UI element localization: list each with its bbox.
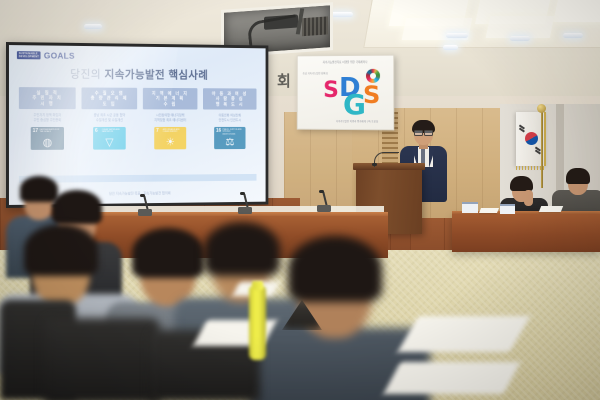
speaker-glasses-icon [414,130,433,134]
sdg-number: 17 [33,128,38,134]
speaker-lapel-right [429,146,436,168]
sdg-number: 6 [95,128,98,134]
yellow-bottle [249,286,266,360]
paper-sheet-foreground [383,362,520,394]
card-heading: 실 질 적 주 민 자 치 시 행 [19,87,76,109]
banner-letter-s1: S [323,78,339,103]
card-heading: 지 역 에 너 지 기 본 계 획 수 립 [143,88,198,110]
card-subtext: 주민자치 정책 확립과 주민 중심형 주민총회 [19,113,76,122]
audience-chair [44,318,160,400]
flag-fringe [516,166,544,170]
banner-top-text: 지속가능발전목표 이행을 위한 국제세미나 [304,61,388,65]
card-subtext: 아동친화 여성친화 안전도시 인권도시 [203,113,256,122]
taeguk-symbol-icon [525,132,538,145]
slide-card: 아 동 과 여 성 사 람 중 심 행 복 도 시 아동친화 여성친화 안전도시… [203,88,256,149]
logo-wordmark: GOALS [44,50,75,60]
sdg-number: 16 [216,128,221,134]
card-subtext: 시민참여형 에너지정책 지역맞춤 최초 에너지센터 [143,113,198,122]
conference-room-photo: SUSTAINABLE DEVELOPMENT GOALS 당진의 지속가능발전… [0,0,600,400]
ceiling-downlight [446,33,468,38]
sdg-glyph: ◍ [31,138,64,149]
card-head-line: 시 행 [41,101,55,107]
paper-sheet [539,206,563,212]
card-sub-line: 수질개선 및 수질개선 [81,118,137,123]
slide-card: 실 질 적 주 민 자 치 시 행 주민자치 정책 확립과 주민 중심형 주민총… [19,87,76,150]
card-head-line: 수 립 [164,101,177,106]
sdg-glyph: ☀ [154,138,186,149]
sdg-glyph: ▽ [93,138,126,149]
sdg-name: PEACE, JUSTICE AND STRONG INSTITUTIONS [222,129,242,136]
ceiling-downlight [563,33,583,38]
speaker-tie [421,149,425,164]
sdg-goal-icon: 17 PARTNERSHIPS FOR THE GOALS ◍ [31,127,64,150]
sdg-name: CLEAN WATER AND SANITATION [102,129,123,134]
attendee-hand [524,190,533,206]
card-sub-line: 안전도시 인권도시 [203,118,256,122]
right-table [452,214,600,252]
sdg-number: 7 [156,128,159,134]
flag-finial [537,104,546,113]
sdgs-banner: 지속가능발전목표 이행을 위한 국제세미나 충남 지속가능발전 협의회 S D … [297,55,394,131]
banner-bottom-text: 지속가능발전 이행과 평가체계 구축 토론회 [327,120,387,124]
card-head-line: 행 복 도 시 [216,102,244,107]
sdg-name: PARTNERSHIPS FOR THE GOALS [40,129,62,134]
slide-card-row: 실 질 적 주 민 자 치 시 행 주민자치 정책 확립과 주민 중심형 주민총… [19,87,257,150]
slide-title-main: 지속가능발전 핵심사례 [104,69,208,82]
name-card [462,202,478,213]
ceiling-downlight [443,45,458,50]
sdg-logo: SUSTAINABLE DEVELOPMENT GOALS [17,50,75,61]
sdg-goal-icon: 16 PEACE, JUSTICE AND STRONG INSTITUTION… [214,127,245,149]
card-subtext: 충남 최초 시군 공동 협약 수질개선 및 수질개선 [81,113,137,122]
paper-sheet [479,208,499,213]
banner-side-text: 충남 지속가능발전 협의회 [303,72,344,75]
ceiling-downlight [84,24,102,29]
card-head-line: 도 입 [103,101,116,107]
card-sub-line: 지역맞춤 최초 에너지센터 [143,118,198,123]
sdg-name: AFFORDABLE AND CLEAN ENERGY [163,129,184,134]
slide-card: 수 질 오 염 총 량 관 리 제 도 입 충남 최초 시군 공동 협약 수질개… [81,87,137,149]
card-heading: 수 질 오 염 총 량 관 리 제 도 입 [81,87,137,109]
slide-title: 당진의 지속가능발전 핵심사례 [9,65,266,83]
bottle-cap [252,281,263,290]
name-card [500,204,515,214]
ceiling-downlight [510,36,530,41]
sdg-glyph: ⚖ [214,138,245,149]
paper-sheet-foreground [398,316,531,352]
slide-card: 지 역 에 너 지 기 본 계 획 수 립 시민참여형 에너지정책 지역맞춤 최… [143,88,198,150]
sdg-goal-icon: 6 CLEAN WATER AND SANITATION ▽ [93,127,126,150]
podium-microphone [374,152,399,167]
wall-sign-character: 회 [277,70,291,91]
card-sub-line: 주민 중심형 주민총회 [19,118,76,123]
sdg-goal-icon: 7 AFFORDABLE AND CLEAN ENERGY ☀ [154,127,186,149]
logo-line-2: DEVELOPMENT [19,55,39,58]
banner-letter-s2: S [363,81,380,109]
card-heading: 아 동 과 여 성 사 람 중 심 행 복 도 시 [203,88,256,109]
slide-title-prefix: 당진의 [70,69,101,81]
